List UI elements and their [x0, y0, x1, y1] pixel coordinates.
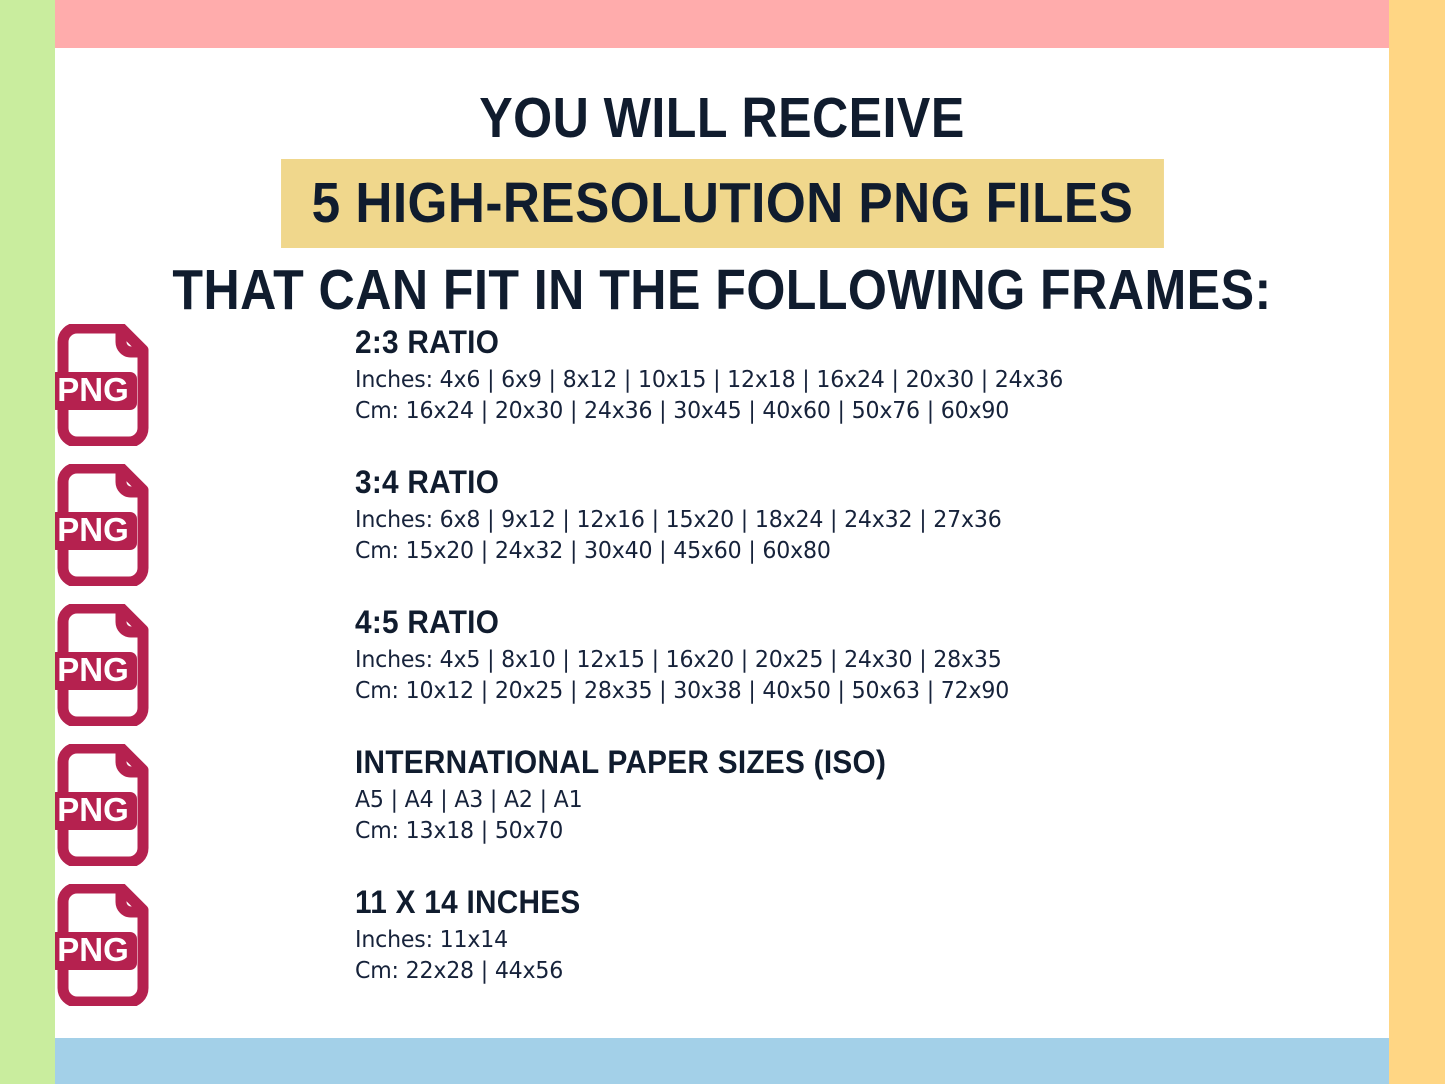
format-cm: Cm: 13x18 | 50x70	[355, 816, 1348, 847]
format-cm: Cm: 22x28 | 44x56	[355, 956, 1348, 987]
decorative-band-left-green	[0, 0, 55, 1084]
png-badge-label: PNG	[57, 651, 129, 688]
png-file-icon: PNG	[55, 324, 157, 446]
format-row: PNG INTERNATIONAL PAPER SIZES (ISO) A5 |…	[55, 736, 1389, 876]
png-badge-label: PNG	[57, 791, 129, 828]
format-inches: A5 | A4 | A3 | A2 | A1	[355, 785, 1348, 816]
format-title: 2:3 RATIO	[355, 326, 1317, 360]
png-badge-label: PNG	[57, 931, 129, 968]
format-cm: Cm: 10x12 | 20x25 | 28x35 | 30x38 | 40x5…	[355, 676, 1348, 707]
format-row: PNG 3:4 RATIO Inches: 6x8 | 9x12 | 12x16…	[55, 456, 1389, 596]
headline-block: YOU WILL RECEIVE 5 HIGH-RESOLUTION PNG F…	[55, 48, 1389, 319]
png-badge-label: PNG	[57, 371, 129, 408]
format-text: 4:5 RATIO Inches: 4x5 | 8x10 | 12x15 | 1…	[355, 596, 1389, 707]
headline-line-2-highlighted: 5 HIGH-RESOLUTION PNG FILES	[281, 159, 1164, 248]
format-title: 3:4 RATIO	[355, 466, 1317, 500]
format-title: 4:5 RATIO	[355, 606, 1317, 640]
format-row: PNG 4:5 RATIO Inches: 4x5 | 8x10 | 12x15…	[55, 596, 1389, 736]
headline-line-3: THAT CAN FIT IN THE FOLLOWING FRAMES:	[135, 262, 1309, 319]
decorative-band-right-yellow	[1389, 0, 1445, 1084]
headline-highlight-wrap: 5 HIGH-RESOLUTION PNG FILES	[55, 159, 1389, 248]
content-area: YOU WILL RECEIVE 5 HIGH-RESOLUTION PNG F…	[55, 48, 1389, 1038]
format-row: PNG 2:3 RATIO Inches: 4x6 | 6x9 | 8x12 |…	[55, 316, 1389, 456]
format-text: INTERNATIONAL PAPER SIZES (ISO) A5 | A4 …	[355, 736, 1389, 847]
format-text: 3:4 RATIO Inches: 6x8 | 9x12 | 12x16 | 1…	[355, 456, 1389, 567]
png-badge-label: PNG	[57, 511, 129, 548]
format-title: 11 X 14 INCHES	[355, 886, 1317, 920]
format-text: 11 X 14 INCHES Inches: 11x14 Cm: 22x28 |…	[355, 876, 1389, 987]
format-row: PNG 11 X 14 INCHES Inches: 11x14 Cm: 22x…	[55, 876, 1389, 1010]
poster-canvas: YOU WILL RECEIVE 5 HIGH-RESOLUTION PNG F…	[0, 0, 1445, 1084]
format-cm: Cm: 16x24 | 20x30 | 24x36 | 30x45 | 40x6…	[355, 396, 1348, 427]
format-inches: Inches: 4x5 | 8x10 | 12x15 | 16x20 | 20x…	[355, 645, 1348, 676]
format-inches: Inches: 6x8 | 9x12 | 12x16 | 15x20 | 18x…	[355, 505, 1348, 536]
png-file-icon: PNG	[55, 884, 157, 1006]
decorative-band-bottom-blue	[55, 1038, 1389, 1084]
format-inches: Inches: 4x6 | 6x9 | 8x12 | 10x15 | 12x18…	[355, 365, 1348, 396]
png-file-icon: PNG	[55, 464, 157, 586]
png-file-icon: PNG	[55, 744, 157, 866]
decorative-band-top-pink	[55, 0, 1389, 48]
headline-line-1: YOU WILL RECEIVE	[135, 90, 1309, 147]
format-inches: Inches: 11x14	[355, 925, 1348, 956]
format-title: INTERNATIONAL PAPER SIZES (ISO)	[355, 746, 1317, 780]
format-list: PNG 2:3 RATIO Inches: 4x6 | 6x9 | 8x12 |…	[55, 316, 1389, 1010]
format-cm: Cm: 15x20 | 24x32 | 30x40 | 45x60 | 60x8…	[355, 536, 1348, 567]
format-text: 2:3 RATIO Inches: 4x6 | 6x9 | 8x12 | 10x…	[355, 316, 1389, 427]
png-file-icon: PNG	[55, 604, 157, 726]
